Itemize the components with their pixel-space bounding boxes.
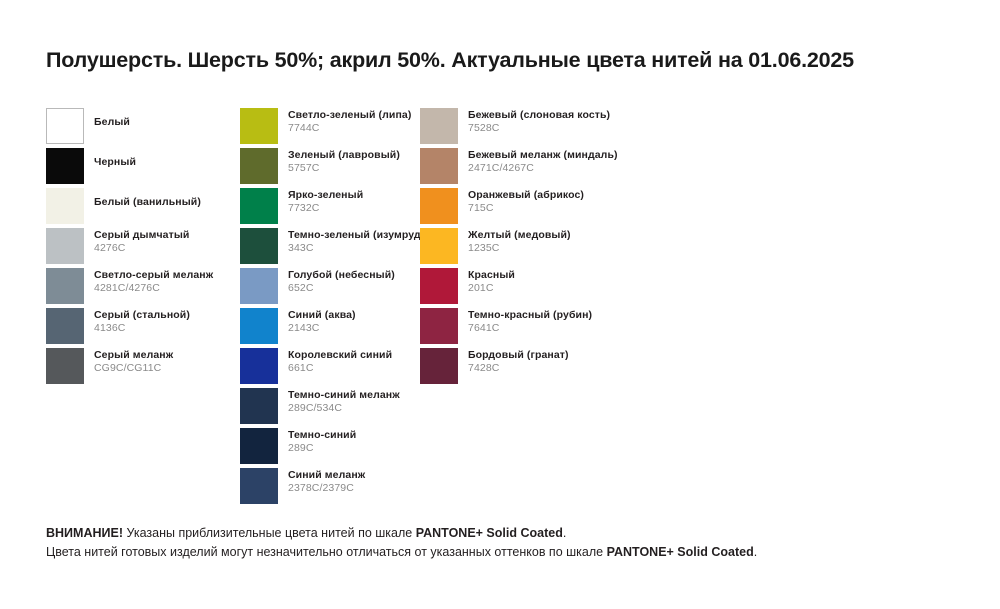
footer-line-2: Цвета нитей готовых изделий могут незнач… [46,543,946,562]
swatch-label-block: Темно-зеленый (изумруд)343C [288,229,424,255]
swatch-pantone-code: 201C [468,282,515,295]
color-swatch [240,468,278,504]
swatch-name: Бордовый (гранат) [468,349,569,362]
swatch-label-block: Оранжевый (абрикос)715C [468,189,584,215]
color-swatch [46,348,84,384]
color-swatch [420,308,458,344]
color-swatch [240,268,278,304]
footer-line-2-text: Цвета нитей готовых изделий могут незнач… [46,545,607,559]
color-swatch [420,188,458,224]
swatch-name: Бежевый (слоновая кость) [468,109,610,122]
swatch-name: Темно-синий меланж [288,389,400,402]
swatch-pantone-code: 7641C [468,322,592,335]
swatch-pantone-code: 2378C/2379C [288,482,365,495]
swatch-pantone-code: 7744C [288,122,411,135]
swatch-label-block: Бордовый (гранат)7428C [468,349,569,375]
color-swatch [46,268,84,304]
swatch-label-block: Красный201C [468,269,515,295]
swatch-name: Зеленый (лавровый) [288,149,400,162]
footer-line-2-end: . [754,545,757,559]
swatch-label-block: Ярко-зеленый7732C [288,189,363,215]
swatch-pantone-code: 343C [288,242,424,255]
swatch-pantone-code: 4276C [94,242,189,255]
color-swatch [420,348,458,384]
swatch-pantone-code: 7732C [288,202,363,215]
footer-attention-label: ВНИМАНИЕ! [46,526,123,540]
swatch-name: Синий (аква) [288,309,356,322]
color-swatch [420,148,458,184]
swatch-label-block: Серый (стальной)4136C [94,309,190,335]
swatch-pantone-code: 661C [288,362,392,375]
footer-brand-1: PANTONE+ Solid Coated [416,526,563,540]
swatch-pantone-code: 1235C [468,242,571,255]
color-swatch [46,188,84,224]
color-swatch [240,428,278,464]
swatch-label-block: Светло-зеленый (липа)7744C [288,109,411,135]
swatch-name: Королевский синий [288,349,392,362]
swatch-name: Светло-зеленый (липа) [288,109,411,122]
footer-line-1: ВНИМАНИЕ! Указаны приблизительные цвета … [46,524,946,543]
swatch-pantone-code: 5757C [288,162,400,175]
swatch-name: Красный [468,269,515,282]
swatch-name: Темно-красный (рубин) [468,309,592,322]
swatch-name: Синий меланж [288,469,365,482]
color-swatch [240,228,278,264]
swatch-name: Серый дымчатый [94,229,189,242]
swatch-label-block: Белый (ванильный) [94,196,201,209]
swatch-label-block: Серый дымчатый4276C [94,229,189,255]
swatch-name: Голубой (небесный) [288,269,395,282]
swatch-name: Черный [94,156,136,169]
swatch-name: Оранжевый (абрикос) [468,189,584,202]
swatch-name: Ярко-зеленый [288,189,363,202]
swatch-pantone-code: 652C [288,282,395,295]
swatch-name: Белый [94,116,130,129]
color-palette-page: Полушерсть. Шерсть 50%; акрил 50%. Актуа… [0,0,1000,609]
swatch-pantone-code: 715C [468,202,584,215]
swatch-label-block: Бежевый (слоновая кость)7528C [468,109,610,135]
footer-line-1-end: . [563,526,566,540]
swatch-name: Белый (ванильный) [94,196,201,209]
swatch-label-block: Голубой (небесный)652C [288,269,395,295]
swatch-label-block: Королевский синий661C [288,349,392,375]
swatch-label-block: Зеленый (лавровый)5757C [288,149,400,175]
swatch-label-block: Бежевый меланж (миндаль)2471C/4267C [468,149,618,175]
swatch-label-block: Темно-синий меланж289C/534C [288,389,400,415]
color-swatch [46,108,84,144]
color-swatch [46,228,84,264]
swatch-label-block: Темно-красный (рубин)7641C [468,309,592,335]
swatch-pantone-code: 7428C [468,362,569,375]
footer-notice: ВНИМАНИЕ! Указаны приблизительные цвета … [46,524,946,562]
swatch-pantone-code: 4136C [94,322,190,335]
color-swatch [420,108,458,144]
swatch-name: Темно-зеленый (изумруд) [288,229,424,242]
swatch-pantone-code: 4281C/4276C [94,282,213,295]
swatch-pantone-code: 2471C/4267C [468,162,618,175]
footer-brand-2: PANTONE+ Solid Coated [607,545,754,559]
color-swatch [240,388,278,424]
swatch-label-block: Синий меланж2378C/2379C [288,469,365,495]
color-swatch [240,188,278,224]
footer-line-1-text: Указаны приблизительные цвета нитей по ш… [123,526,416,540]
color-swatch [420,268,458,304]
swatch-name: Светло-серый меланж [94,269,213,282]
swatch-pantone-code: 7528C [468,122,610,135]
swatch-label-block: Черный [94,156,136,169]
color-swatch [240,348,278,384]
color-swatch [46,308,84,344]
color-swatch [240,308,278,344]
color-swatch [420,228,458,264]
swatch-label-block: Темно-синий289C [288,429,356,455]
swatch-pantone-code: 289C [288,442,356,455]
color-swatch [46,148,84,184]
swatch-name: Серый меланж [94,349,173,362]
swatch-label-block: Желтый (медовый)1235C [468,229,571,255]
swatch-pantone-code: 2143C [288,322,356,335]
swatch-name: Желтый (медовый) [468,229,571,242]
swatch-label-block: Белый [94,116,130,129]
swatch-pantone-code: CG9C/CG11C [94,362,173,375]
swatch-name: Серый (стальной) [94,309,190,322]
color-swatch [240,108,278,144]
swatch-name: Темно-синий [288,429,356,442]
swatch-label-block: Серый меланжCG9C/CG11C [94,349,173,375]
swatch-name: Бежевый меланж (миндаль) [468,149,618,162]
swatch-label-block: Синий (аква)2143C [288,309,356,335]
swatch-pantone-code: 289C/534C [288,402,400,415]
page-title: Полушерсть. Шерсть 50%; акрил 50%. Актуа… [46,48,854,73]
color-swatch [240,148,278,184]
swatch-label-block: Светло-серый меланж4281C/4276C [94,269,213,295]
